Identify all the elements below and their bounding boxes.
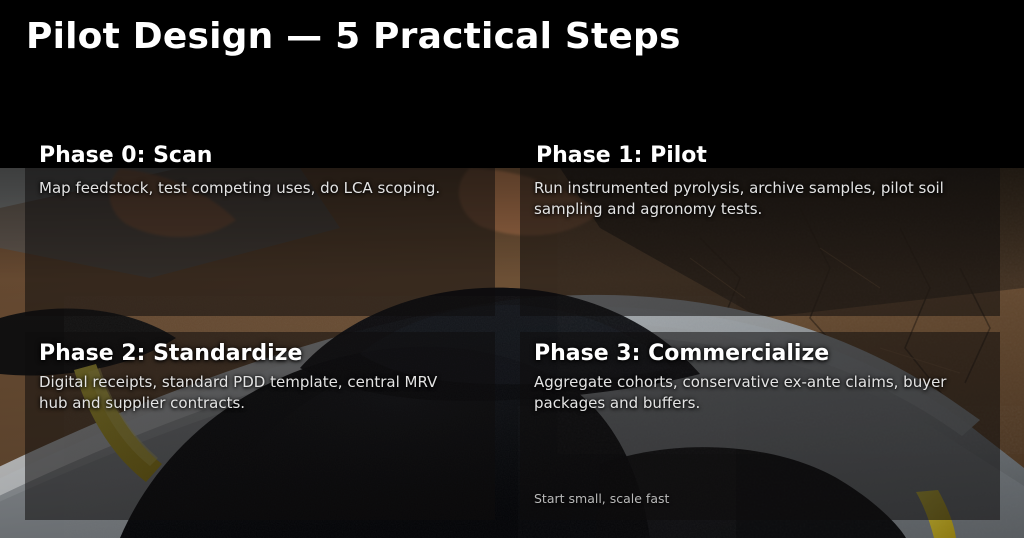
phase-0-body: Map feedstock, test competing uses, do L… [39, 178, 469, 199]
phase-2-card[interactable]: Phase 2: Standardize Digital receipts, s… [25, 332, 495, 520]
phase-2-body: Digital receipts, standard PDD template,… [39, 372, 469, 415]
phase-0-heading: Phase 0: Scan [39, 143, 212, 168]
phase-3-heading: Phase 3: Commercialize [534, 342, 984, 366]
phase-1-heading: Phase 1: Pilot [536, 143, 707, 168]
footer-caption: Start small, scale fast [534, 491, 669, 506]
page-title: Pilot Design — 5 Practical Steps [26, 16, 681, 57]
phase-2-heading: Phase 2: Standardize [39, 342, 479, 366]
phase-1-body: Run instrumented pyrolysis, archive samp… [534, 178, 964, 221]
phase-1-card[interactable]: Run instrumented pyrolysis, archive samp… [520, 168, 1000, 316]
slide-canvas: Pilot Design — 5 Practical Steps Phase 0… [0, 0, 1024, 538]
phase-3-body: Aggregate cohorts, conservative ex-ante … [534, 372, 964, 415]
phase-3-card[interactable]: Phase 3: Commercialize Aggregate cohorts… [520, 332, 1000, 520]
phase-0-card[interactable]: Map feedstock, test competing uses, do L… [25, 168, 495, 316]
